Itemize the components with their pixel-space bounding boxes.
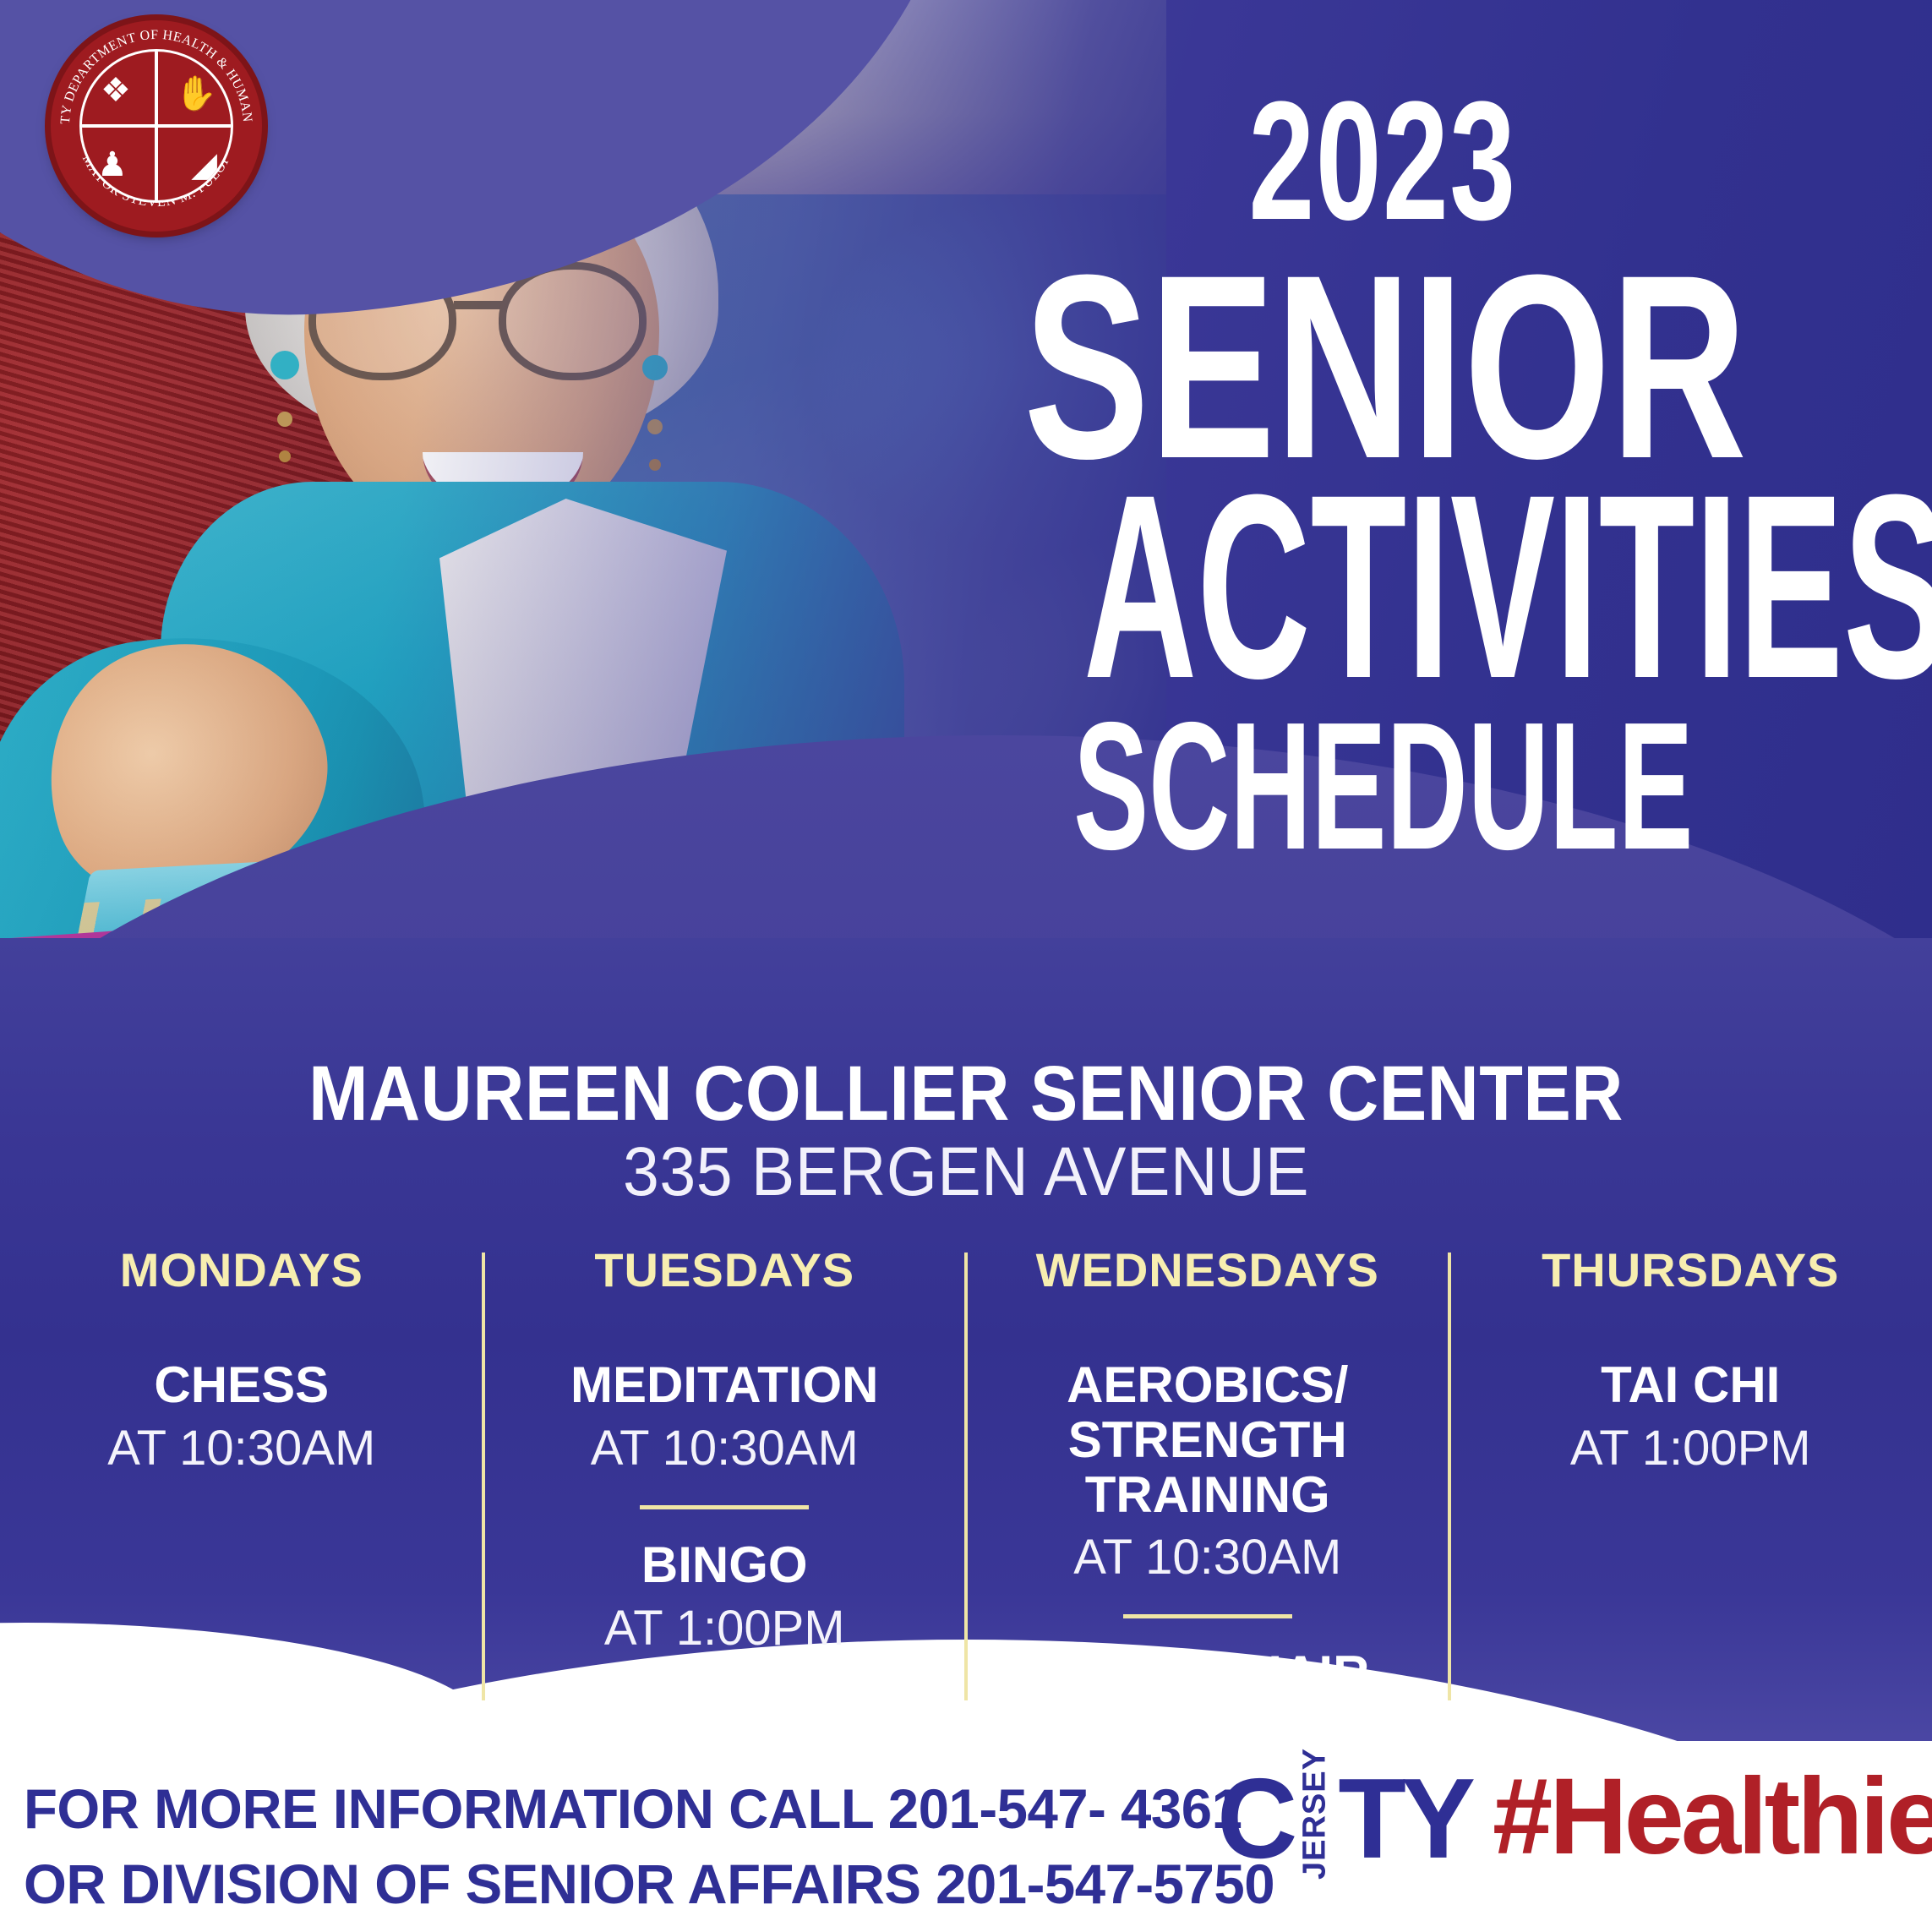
- activity-name: MEDITATION: [505, 1358, 945, 1413]
- senior-activities-flyer: JERSEY CITY DEPARTMENT OF HEALTH & HUMAN…: [0, 0, 1932, 1932]
- activity-item: AEROBICS/ STRENGTH TRAINING AT 10:30AM: [988, 1358, 1427, 1585]
- title-line-schedule: SCHEDULE: [1073, 702, 1692, 870]
- activity-item: BINGO AT 1:00PM: [505, 1538, 945, 1656]
- activity-divider: [1123, 1614, 1292, 1618]
- activity-name: TAI CHI: [1471, 1358, 1911, 1413]
- title-year: 2023: [1034, 81, 1732, 242]
- activity-item: MEDITATION AT 10:30AM: [505, 1358, 945, 1476]
- family-icon: ♟: [97, 148, 128, 182]
- schedule-column-wednesdays: WEDNESDAYS AEROBICS/ STRENGTH TRAINING A…: [966, 1242, 1449, 1820]
- day-label-thursdays: THURSDAYS: [1471, 1242, 1911, 1297]
- activity-time: AT 10:30AM: [22, 1422, 461, 1476]
- contact-line-2: OR DIVISION OF SENIOR AFFAIRS 201-547-57…: [24, 1847, 1178, 1922]
- activity-divider: [640, 1505, 809, 1509]
- seal-emblem: ❖ ✋ ♟ ◢: [79, 49, 233, 203]
- activity-item: TAI CHI AT 1:00PM: [1471, 1358, 1911, 1476]
- activity-name: CHESS: [22, 1358, 461, 1413]
- activity-time: AT 10:30AM: [505, 1422, 945, 1476]
- activity-time: AT 1:00PM: [505, 1602, 945, 1656]
- day-label-mondays: MONDAYS: [22, 1242, 461, 1297]
- day-label-tuesdays: TUESDAYS: [505, 1242, 945, 1297]
- logo-letter-c: C: [1217, 1762, 1292, 1876]
- weekly-schedule-grid: MONDAYS CHESS AT 10:30AM TUESDAYS MEDITA…: [0, 1242, 1932, 1749]
- jersey-city-health-seal: JERSEY CITY DEPARTMENT OF HEALTH & HUMAN…: [51, 20, 262, 232]
- day-label-wednesdays: WEDNESDAYS: [988, 1242, 1427, 1297]
- contact-line-1: FOR MORE INFORMATION CALL 201-547- 4361: [24, 1771, 1178, 1847]
- activity-time: AT 10:30AM: [988, 1531, 1427, 1585]
- schedule-column-thursdays: THURSDAYS TAI CHI AT 1:00PM: [1449, 1242, 1932, 1820]
- jersey-city-logo: C JERSEY TY #HealthierJC: [1217, 1763, 1932, 1864]
- food-basket-icon: ◢: [191, 148, 217, 182]
- hashtag-healthierjc: #HealthierJC: [1493, 1763, 1932, 1871]
- venue-name: MAUREEN COLLIER SENIOR CENTER: [77, 1050, 1854, 1138]
- helping-hands-icon: ✋: [175, 77, 217, 111]
- ribbon-icon: ❖: [101, 74, 131, 107]
- footer-bar: FOR MORE INFORMATION CALL 201-547- 4361 …: [0, 1741, 1932, 1932]
- logo-vertical-jersey-text: JERSEY: [1297, 1748, 1334, 1880]
- activity-name: BINGO: [505, 1538, 945, 1593]
- contact-info: FOR MORE INFORMATION CALL 201-547- 4361 …: [24, 1771, 1178, 1922]
- schedule-column-mondays: MONDAYS CHESS AT 10:30AM: [0, 1242, 483, 1820]
- title-line-activities: ACTIVITIES: [1083, 477, 1682, 696]
- activity-time: AT 1:00PM: [1471, 1422, 1911, 1476]
- logo-letters-ty: TY: [1338, 1762, 1471, 1876]
- schedule-column-tuesdays: TUESDAYS MEDITATION AT 10:30AM BINGO AT …: [483, 1242, 967, 1820]
- activity-item: CHESS AT 10:30AM: [22, 1358, 461, 1476]
- poster-title: 2023 SENIOR ACTIVITIES SCHEDULE: [884, 81, 1881, 870]
- venue-address: 335 BERGEN AVENUE: [58, 1132, 1875, 1212]
- hero-section: JERSEY CITY DEPARTMENT OF HEALTH & HUMAN…: [0, 0, 1932, 997]
- activity-name: AEROBICS/ STRENGTH TRAINING: [988, 1358, 1427, 1522]
- logo-vertical-jersey: JERSEY: [1296, 1763, 1334, 1864]
